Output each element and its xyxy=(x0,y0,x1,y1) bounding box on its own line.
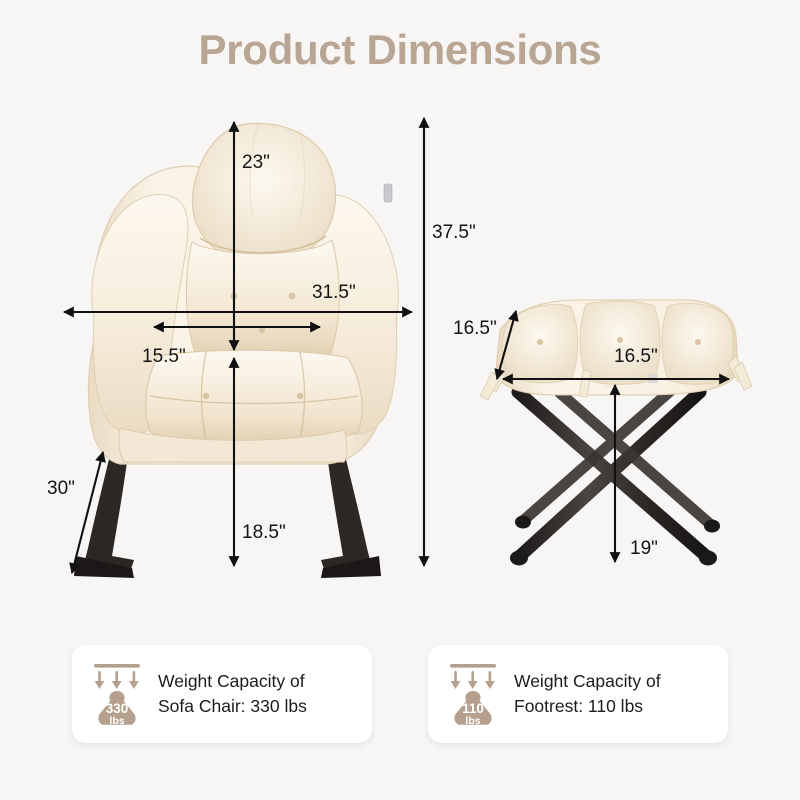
dimension-label-footrest-height: 19" xyxy=(630,538,658,560)
dimension-label-overall-height: 37.5" xyxy=(432,222,476,244)
capacity-card-text: Weight Capacity of Sofa Chair: 330 lbs xyxy=(158,669,307,719)
weight-capacity-icon: 330 lbs xyxy=(86,658,148,730)
capacity-line-1: Weight Capacity of xyxy=(514,671,661,691)
weight-badge-value: 110 xyxy=(462,701,484,716)
weight-badge-unit: lbs xyxy=(465,715,480,727)
capacity-line-2: Footrest: 110 lbs xyxy=(514,694,661,719)
dimension-label-seat-width: 15.5" xyxy=(142,346,186,368)
dimension-label-footrest-depth: 16.5" xyxy=(453,318,497,340)
capacity-card-text: Weight Capacity of Footrest: 110 lbs xyxy=(514,669,661,719)
capacity-line-1: Weight Capacity of xyxy=(158,671,305,691)
dimension-label-seat-height: 18.5" xyxy=(242,522,286,544)
arrow-footrest-depth xyxy=(497,311,516,379)
capacity-card-footrest: 110 lbs Weight Capacity of Footrest: 110… xyxy=(428,645,728,743)
arrow-overall-depth xyxy=(72,452,103,573)
dimension-label-overall-depth: 30" xyxy=(47,478,75,500)
dimension-label-overall-width: 31.5" xyxy=(312,282,356,304)
product-dimensions-infographic: Product Dimensions xyxy=(0,0,800,800)
weight-badge-value: 330 xyxy=(106,701,129,716)
capacity-card-sofa-chair: 330 lbs Weight Capacity of Sofa Chair: 3… xyxy=(72,645,372,743)
weight-capacity-icon: 110 lbs xyxy=(442,658,504,730)
weight-badge-unit: lbs xyxy=(109,715,124,727)
capacity-line-2: Sofa Chair: 330 lbs xyxy=(158,694,307,719)
dimension-label-footrest-width: 16.5" xyxy=(614,346,658,368)
dimension-label-backrest-height: 23" xyxy=(242,152,270,174)
